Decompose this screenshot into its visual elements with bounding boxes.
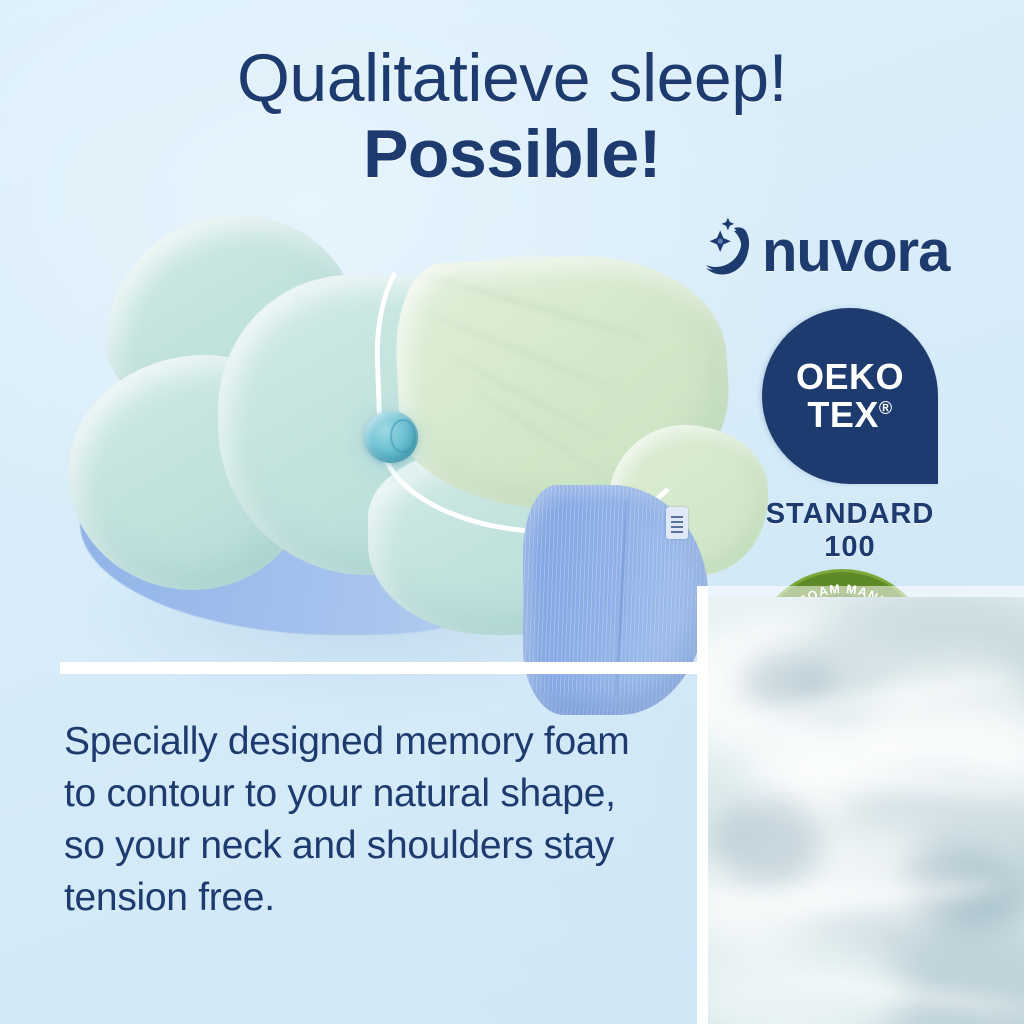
crescent-moon-icon bbox=[690, 216, 764, 286]
foam-texture-panel bbox=[708, 597, 1024, 1024]
oeko-tex-line-2-text: TEX bbox=[807, 394, 879, 435]
oeko-tex-line-2: TEX® bbox=[807, 396, 892, 434]
oeko-tex-droplet-shape: OEKO TEX® bbox=[762, 308, 938, 484]
headline: Qualitatieve sleep! Possible! bbox=[0, 44, 1024, 188]
oeko-tex-inner-text: OEKO TEX® bbox=[762, 308, 938, 484]
infographic-canvas: Qualitatieve sleep! Possible! bbox=[0, 0, 1024, 1024]
pillow-button-ring bbox=[390, 419, 416, 453]
pillow-body bbox=[68, 215, 668, 635]
headline-line-1: Qualitatieve sleep! bbox=[0, 44, 1024, 112]
oeko-tex-standard-label: STANDARD bbox=[750, 498, 950, 531]
description-line-1: Specially designed memory foam bbox=[64, 716, 714, 768]
oeko-tex-badge: OEKO TEX® STANDARD 100 bbox=[750, 308, 950, 564]
headline-line-2: Possible! bbox=[0, 120, 1024, 188]
registered-trademark-icon: ® bbox=[879, 398, 893, 418]
description-text: Specially designed memory foam to contou… bbox=[64, 716, 714, 923]
description-line-3: so your neck and shoulders stay bbox=[64, 820, 714, 872]
pillow-brand-label bbox=[666, 507, 688, 539]
oeko-tex-line-1: OEKO bbox=[796, 358, 904, 396]
divider-horizontal-upper-right bbox=[697, 586, 1024, 597]
brand-logo: nuvora bbox=[690, 212, 990, 292]
oeko-tex-standard-number: 100 bbox=[750, 531, 950, 564]
brand-name: nuvora bbox=[762, 218, 949, 285]
description-line-2: to contour to your natural shape, bbox=[64, 768, 714, 820]
product-image bbox=[28, 195, 718, 675]
foam-shadow bbox=[713, 797, 823, 887]
description-line-4: tension free. bbox=[64, 872, 714, 924]
